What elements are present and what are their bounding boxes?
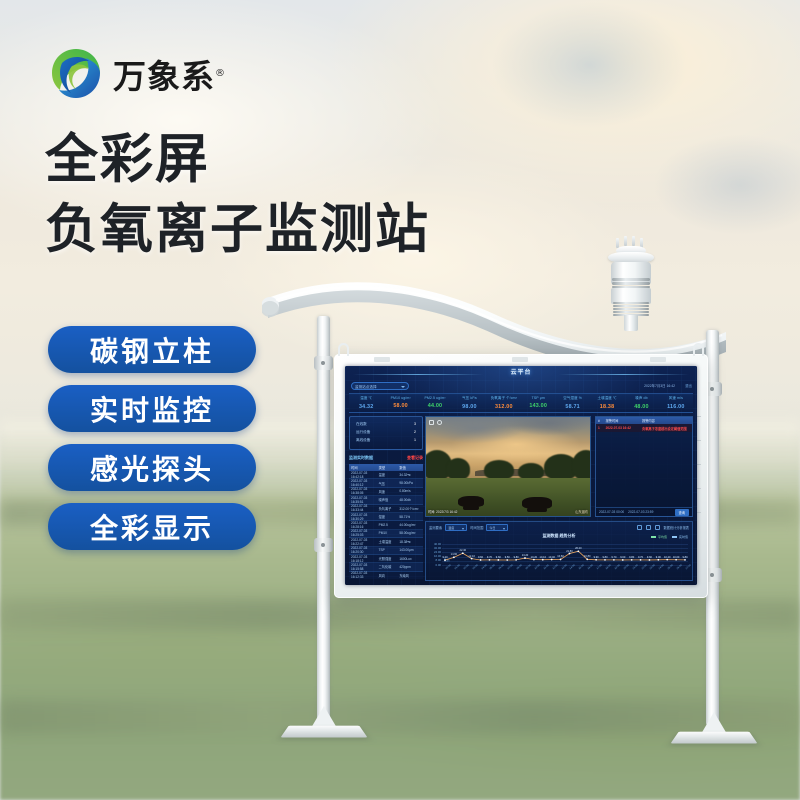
- table-cell: 44.00ug/m³: [399, 523, 423, 527]
- status-row: 离线设备1: [356, 436, 416, 444]
- metric-value: 48.00: [624, 404, 658, 410]
- display-housing: 云平台 监测站点选择 2022年7月3日 16:42 退出 温度 ℃34.32P…: [334, 354, 708, 598]
- feature-badge[interactable]: 实时监控: [48, 385, 256, 432]
- alarm-column-header: 报警时间: [606, 418, 642, 423]
- chart-point-label: 9.20: [442, 556, 447, 559]
- base-plate-left: [285, 706, 363, 746]
- status-value: 2: [414, 428, 416, 436]
- chart-point-label: 21.80: [566, 550, 573, 553]
- metric-value: 312.00: [487, 404, 521, 410]
- mount-tab: [512, 357, 528, 362]
- headline-block: 全彩屏 负氧离子监测站: [45, 125, 430, 265]
- base-plate-right: [675, 712, 753, 752]
- video-controls[interactable]: [429, 420, 442, 425]
- table-cell: 2022-07-03 16:25:03: [349, 529, 379, 537]
- chart-point-label: 9.50: [505, 556, 510, 559]
- chart-point-label: 9.70: [487, 556, 492, 559]
- left-column: 在线数3运行设备2离线设备1 监测实时数据 查看记录 时间类型数值2022-07…: [349, 416, 423, 581]
- legend-item[interactable]: 实时值: [672, 535, 688, 539]
- legend-label: 平均值: [658, 535, 667, 539]
- table-cell: 2022-07-03 16:22:47: [349, 538, 379, 546]
- table-cell: 58.71%: [399, 515, 423, 519]
- metric-label: 温度 ℃: [349, 396, 383, 401]
- table-cell: 0.80m/s: [399, 489, 423, 493]
- mount-tab: [650, 357, 666, 362]
- metric-value: 58.00: [383, 403, 417, 409]
- table-cell: PM10: [379, 531, 400, 535]
- chart-point-label: 9.60: [647, 556, 652, 559]
- metric-item: 气压 kPa98.00: [452, 394, 486, 412]
- metric-label: TSP μm: [521, 396, 555, 400]
- globe-swirl-logo-icon: [48, 46, 104, 102]
- metric-item: 负氧离子 个/cm³312.00: [487, 394, 521, 412]
- table-cell: 温度: [379, 472, 400, 477]
- alarm-rows[interactable]: 12022-07-03 16:42负氧离子浓度超出设定阈值范围: [596, 424, 692, 432]
- alarm-column-header: #: [596, 419, 606, 423]
- records-panel-header: 监测实时数据 查看记录: [349, 454, 423, 462]
- ultrasonic-weather-sensor: [600, 222, 662, 326]
- chart-point-label: 9.70: [611, 556, 616, 559]
- metric-value: 143.00: [521, 403, 555, 409]
- table-cell: 风速: [379, 489, 400, 494]
- status-label: 运行设备: [356, 428, 370, 436]
- table-cell: PM2.5: [379, 523, 400, 527]
- site-select-dropdown[interactable]: 监测站点选择: [351, 382, 409, 390]
- table-cell: 湿度: [379, 514, 400, 519]
- video-tree: [484, 460, 514, 480]
- alarm-cell: 1: [596, 426, 606, 430]
- chart-point-label: 9.90: [656, 556, 661, 559]
- metric-label: 土壤温度 ℃: [590, 396, 624, 401]
- brand-logo: 万象系®: [48, 46, 226, 102]
- chart-point-label: 10.80: [584, 555, 591, 558]
- metric-value: 34.32: [349, 404, 383, 410]
- chart-point-label: 10.40: [548, 556, 555, 559]
- dashboard-title: 云平台: [511, 367, 532, 376]
- fullscreen-icon[interactable]: [429, 420, 434, 425]
- table-cell: 34.32℃: [399, 473, 423, 477]
- chart-toolbar-right[interactable]: 数据统计分析报表: [637, 525, 690, 530]
- table-cell: 土壤温度: [379, 539, 400, 544]
- metric-item: TSP μm143.00: [521, 394, 555, 412]
- legend-swatch: [672, 536, 677, 538]
- metric-value: 98.00: [452, 404, 486, 410]
- chart-point-label: 9.60: [478, 556, 483, 559]
- chart-x-axis-labels: 00:0001:0002:0003:0004:0005:0006:0007:00…: [442, 568, 688, 579]
- metric-item: PM10 ug/m³58.00: [383, 394, 417, 412]
- metric-label: PM2.5 ug/m³: [418, 396, 452, 400]
- brand-name: 万象系®: [113, 50, 226, 98]
- live-camera-feed[interactable]: 时间: 2022/7/3 16:42 山东潍坊: [425, 416, 591, 517]
- video-tree: [572, 450, 591, 480]
- chart-report-label[interactable]: 数据统计分析报表: [664, 525, 690, 530]
- chart-point-label: 10.60: [557, 555, 564, 558]
- metric-item: 风速 m/s116.00: [659, 394, 693, 412]
- feature-badge-list: 碳钢立柱实时监控感光探头全彩显示: [48, 326, 256, 562]
- chart-point-label: 9.90: [594, 556, 599, 559]
- table-cell: 2022-07-03 16:33:44: [349, 504, 379, 512]
- alarm-cell: 2022-07-03 16:42: [606, 426, 642, 430]
- feature-badge[interactable]: 碳钢立柱: [48, 326, 256, 373]
- led-display-screen[interactable]: 云平台 监测站点选择 2022年7月3日 16:42 退出 温度 ℃34.32P…: [345, 366, 697, 585]
- table-cell: 48.00db: [399, 498, 423, 502]
- chart-point-label: 9.80: [602, 556, 607, 559]
- headline-line-1: 全彩屏: [45, 125, 430, 195]
- header-divider-right: [559, 374, 689, 375]
- metric-value: 116.00: [659, 404, 693, 410]
- alarm-row[interactable]: 12022-07-03 16:42负氧离子浓度超出设定阈值范围: [596, 424, 692, 432]
- chart-point-label: 9.60: [620, 556, 625, 559]
- metric-item: 空气湿度 %58.71: [555, 394, 589, 412]
- table-cell: 2022-07-03 16:20:30: [349, 546, 379, 554]
- legend-item[interactable]: 平均值: [651, 535, 667, 539]
- expand-icon[interactable]: [655, 525, 660, 530]
- hanger-bracket: [338, 343, 349, 356]
- chart-y-tick: 8.00: [428, 559, 441, 562]
- table-cell: 2022-07-03 16:12:33: [349, 571, 379, 579]
- metric-value: 58.71: [555, 404, 589, 410]
- records-title: 监测实时数据: [349, 455, 373, 461]
- chart-point-label: 10.10: [540, 556, 547, 559]
- status-row: 在线数3: [356, 420, 416, 428]
- metric-label: PM10 ug/m³: [383, 396, 417, 400]
- chart-point-label: 10.20: [664, 556, 671, 559]
- table-cell: 2022-07-03 16:40:12: [349, 479, 379, 487]
- alarm-column-header: 报警内容: [642, 418, 692, 423]
- chart-point-label: 9.80: [514, 556, 519, 559]
- alarm-cell: 负氧离子浓度超出设定阈值范围: [642, 426, 692, 431]
- table-cell: 光照强度: [379, 556, 400, 561]
- chart-y-tick: 0.00: [428, 564, 441, 567]
- hanger-bracket: [693, 343, 704, 356]
- post-collar: [314, 538, 333, 552]
- video-cattle: [458, 496, 484, 507]
- metric-item: PM2.5 ug/m³44.00: [418, 394, 452, 412]
- metric-label: 气压 kPa: [452, 396, 486, 401]
- chart-element-select[interactable]: 温度: [445, 524, 467, 531]
- records-column-header: 类型: [379, 465, 400, 470]
- video-timestamp: 时间: 2022/7/3 16:42: [428, 509, 457, 514]
- alarm-header-row: #报警时间报警内容: [596, 417, 692, 424]
- legend-label: 实时值: [679, 535, 688, 539]
- chart-point-label: 10.20: [531, 556, 538, 559]
- brand-name-text: 万象系: [113, 57, 215, 96]
- device-status-box: 在线数3运行设备2离线设备1: [349, 416, 423, 450]
- table-cell: TSP: [379, 548, 400, 552]
- chart-point-label: 14.60: [451, 553, 458, 556]
- monitoring-dashboard: 云平台 监测站点选择 2022年7月3日 16:42 退出 温度 ℃34.32P…: [345, 366, 697, 585]
- table-cell: 噪声值: [379, 497, 400, 502]
- logout-button[interactable]: 退出: [685, 383, 692, 388]
- header-divider-left: [353, 374, 483, 375]
- metric-strip: 温度 ℃34.32PM10 ug/m³58.00PM2.5 ug/m³44.00…: [349, 393, 693, 413]
- table-cell: 2022-07-03 16:15:58: [349, 563, 379, 571]
- records-column-header: 数值: [399, 465, 423, 470]
- chart-point-label: 10.00: [673, 556, 680, 559]
- table-cell: 58.00ug/m³: [399, 531, 423, 535]
- chart-title: 监测数据 趋势分析: [542, 533, 575, 539]
- metric-label: 风速 m/s: [659, 396, 693, 401]
- refresh-icon[interactable]: [637, 525, 642, 530]
- metric-item: 噪声 db48.00: [624, 394, 658, 412]
- table-cell: 420ppm: [399, 565, 423, 569]
- download-icon[interactable]: [646, 525, 651, 530]
- table-cell: 1600Lux: [399, 557, 423, 561]
- mount-tab: [374, 357, 390, 362]
- status-row: 运行设备2: [356, 428, 416, 436]
- table-cell: 2022-07-03 16:28:16: [349, 521, 379, 529]
- alarm-panel[interactable]: #报警时间报警内容 12022-07-03 16:42负氧离子浓度超出设定阈值范…: [595, 416, 693, 517]
- table-cell: 2022-07-03 16:18:12: [349, 555, 379, 563]
- chart-point-label: 9.60: [496, 556, 501, 559]
- table-cell: 2022-07-03 16:30:29: [349, 513, 379, 521]
- alarm-footer[interactable]: 2022-07-03 00:00 2022-07-03 23:59 查询: [596, 507, 692, 516]
- chart-point-label: 9.80: [629, 556, 634, 559]
- video-watermark: 山东潍坊: [575, 509, 588, 514]
- chart-toolbar[interactable]: 监测要素 温度 时间范围 今日 数据统计分析报表: [426, 522, 692, 533]
- table-cell: 18.38℃: [399, 540, 423, 544]
- post-collar: [314, 356, 333, 370]
- metric-item: 土壤温度 ℃18.38: [590, 394, 624, 412]
- snapshot-icon[interactable]: [437, 420, 442, 425]
- dashboard-header: 云平台: [345, 366, 697, 381]
- metric-item: 温度 ℃34.32: [349, 394, 383, 412]
- video-cattle: [522, 497, 552, 509]
- table-cell: 负氧离子: [379, 506, 400, 511]
- registered-mark: ®: [215, 68, 226, 79]
- table-cell: 二氧化碳: [379, 564, 400, 569]
- table-cell: 风向: [379, 573, 400, 578]
- alarm-query-button[interactable]: 查询: [675, 509, 689, 516]
- chart-point-label: 22.40: [460, 549, 467, 552]
- support-post-left: [317, 316, 330, 726]
- records-more-link[interactable]: 查看记录: [407, 455, 423, 461]
- chart-point-label: 9.80: [682, 556, 687, 559]
- table-cell: 2022-07-03 16:42:18: [349, 471, 379, 479]
- metric-value: 44.00: [418, 403, 452, 409]
- metric-value: 18.38: [590, 404, 624, 410]
- table-cell: 东南风: [399, 573, 423, 578]
- metric-label: 空气湿度 %: [555, 396, 589, 401]
- headline-line-2: 负氧离子监测站: [45, 195, 430, 265]
- feature-badge[interactable]: 全彩显示: [48, 503, 256, 550]
- table-cell: 2022-07-03 16:38:05: [349, 487, 379, 495]
- chart-point-label: 26.20: [575, 547, 582, 550]
- header-datetime: 2022年7月3日 16:42: [644, 383, 675, 388]
- chart-point-label: 9.70: [638, 556, 643, 559]
- status-value: 1: [414, 436, 416, 444]
- table-cell: 98.00kPa: [399, 481, 423, 485]
- metric-label: 噪声 db: [624, 396, 658, 401]
- legend-swatch: [651, 536, 656, 538]
- metric-label: 负氧离子 个/cm³: [487, 396, 521, 401]
- chart-point-label: 12.10: [468, 555, 475, 558]
- feature-badge[interactable]: 感光探头: [48, 444, 256, 491]
- records-column-header: 时间: [349, 465, 379, 470]
- table-cell: 气压: [379, 481, 400, 486]
- chart-element-label: 监测要素: [429, 525, 442, 530]
- table-row[interactable]: 2022-07-03 16:12:33风向东南风: [349, 572, 423, 579]
- table-cell: 312.00个/cm³: [399, 506, 423, 511]
- status-label: 离线设备: [356, 436, 370, 444]
- alarm-date-to[interactable]: 2022-07-03 23:59: [628, 510, 653, 514]
- chart-legend: 平均值实时值: [651, 535, 688, 539]
- status-value: 3: [414, 420, 416, 428]
- table-cell: 143.00μm: [399, 548, 423, 552]
- alarm-date-from[interactable]: 2022-07-03 00:00: [599, 510, 624, 514]
- table-cell: 2022-07-03 16:35:51: [349, 496, 379, 504]
- chart-point-label: 13.20: [522, 554, 529, 557]
- records-table[interactable]: 时间类型数值2022-07-03 16:42:18温度34.32℃2022-07…: [349, 464, 423, 579]
- video-tree: [446, 458, 470, 480]
- trend-chart-panel: 监测要素 温度 时间范围 今日 数据统计分析报表 监测数据 趋势分析 平均值实时…: [425, 521, 693, 581]
- chart-range-select[interactable]: 今日: [486, 524, 508, 531]
- chart-range-label: 时间范围: [470, 525, 483, 530]
- status-label: 在线数: [356, 420, 367, 428]
